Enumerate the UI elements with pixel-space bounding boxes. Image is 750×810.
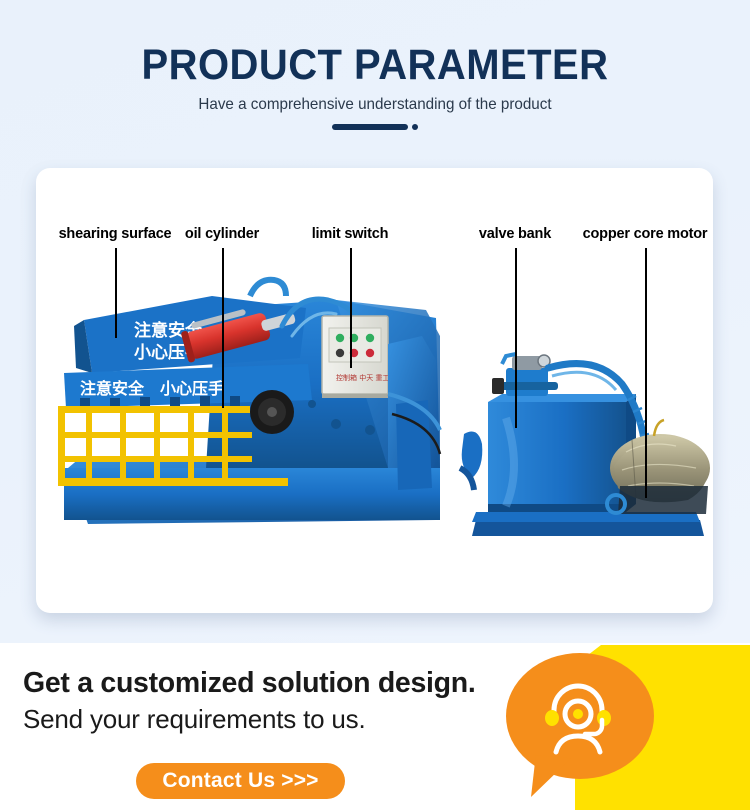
svg-text:控制箱 中天 重工: 控制箱 中天 重工 [336, 373, 389, 382]
cta-headline: Get a customized solution design. [23, 666, 476, 700]
callout-label: limit switch [312, 226, 389, 242]
contact-us-button[interactable]: Contact Us >>> [136, 763, 345, 799]
callout-label: valve bank [479, 226, 551, 242]
svg-text:注意安全 小心压手: 注意安全 小心压手 [80, 379, 224, 398]
product-parameter-page: PRODUCT PARAMETER Have a comprehensive u… [0, 0, 750, 810]
callout-label: copper core motor [583, 226, 708, 242]
callout-leader-line [350, 248, 352, 368]
hero-section: PRODUCT PARAMETER Have a comprehensive u… [0, 0, 750, 643]
page-subtitle: Have a comprehensive understanding of th… [19, 95, 732, 115]
callout-leader-line [515, 248, 517, 428]
page-title: PRODUCT PARAMETER [26, 42, 724, 88]
cta-subheadline: Send your requirements to us. [23, 703, 366, 735]
callout-leader-line [645, 248, 647, 498]
divider [0, 122, 750, 132]
callout-label: oil cylinder [185, 226, 259, 242]
divider-bar [332, 124, 408, 130]
callout-label: shearing surface [59, 226, 172, 242]
divider-dot [412, 124, 418, 130]
callout-leader-line [115, 248, 117, 338]
headset-operator-icon [532, 678, 624, 758]
callout-leader-line [222, 248, 224, 408]
